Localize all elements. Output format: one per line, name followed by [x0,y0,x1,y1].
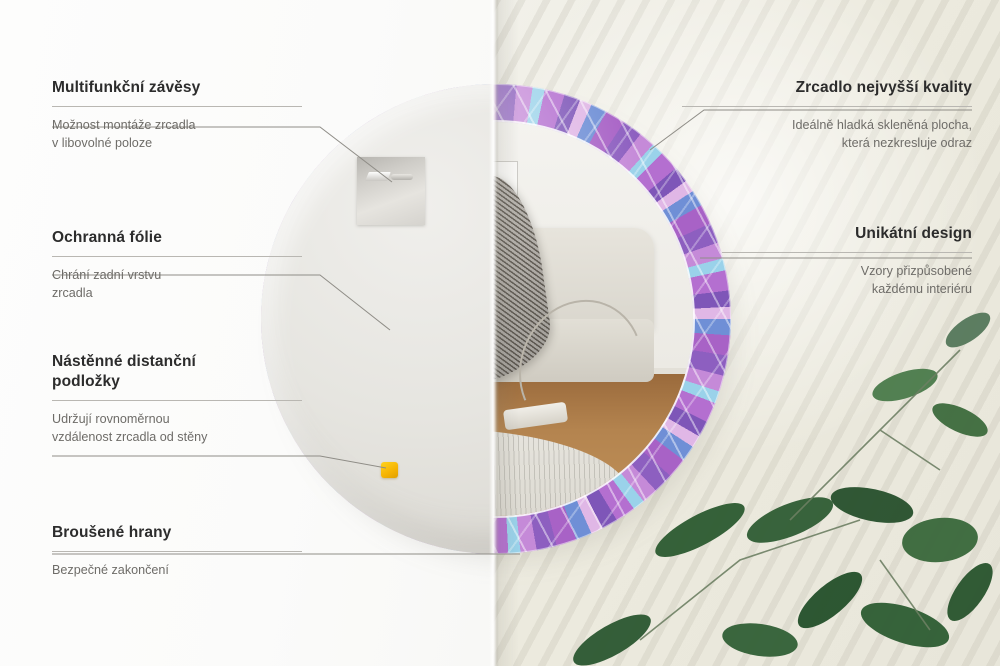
yellow-spacer-pad [381,462,398,478]
callout-rule [52,400,302,401]
callout-brousene-hrany: Broušené hrany Bezpečné zakončení [52,523,302,579]
callout-description: Udržují rovnoměrnou vzdálenost zrcadla o… [52,410,302,447]
callout-ochranna-folie: Ochranná fólie Chrání zadní vrstvu zrcad… [52,228,302,302]
callout-description: Vzory přizpůsobené každému interiéru [722,262,972,299]
callout-description: Ideálně hladká skleněná plocha, která ne… [682,116,972,153]
callout-title: Unikátní design [722,224,972,244]
callout-description: Chrání zadní vrstvu zrcadla [52,266,302,303]
callout-description: Bezpečné zakončení [52,561,302,579]
split-divider [489,0,499,666]
callout-title: Ochranná fólie [52,228,302,248]
callout-title: Multifunkční závěsy [52,78,302,98]
infographic-canvas: Multifunkční závěsy Možnost montáže zrca… [0,0,1000,666]
callout-title: Nástěnné distanční podložky [52,352,302,392]
callout-title: Broušené hrany [52,523,302,543]
callout-rule [52,256,302,257]
hanger-plate [357,157,425,225]
callout-unikatni-design: Unikátní design Vzory přizpůsobené každé… [722,224,972,298]
callout-rule [52,106,302,107]
callout-multifunkcni-zavesy: Multifunkční závěsy Možnost montáže zrca… [52,78,302,152]
hanger-hook-icon [367,172,413,181]
callout-zrcadlo-nejvyssi-kvality: Zrcadlo nejvyšší kvality Ideálně hladká … [682,78,972,152]
callout-rule [722,252,972,253]
callout-rule [52,551,302,552]
callout-rule [682,106,972,107]
callout-nastenne-distancni-podlozky: Nástěnné distanční podložky Udržují rovn… [52,352,302,446]
callout-title: Zrcadlo nejvyšší kvality [682,78,972,98]
callout-description: Možnost montáže zrcadla v libovolné polo… [52,116,302,153]
